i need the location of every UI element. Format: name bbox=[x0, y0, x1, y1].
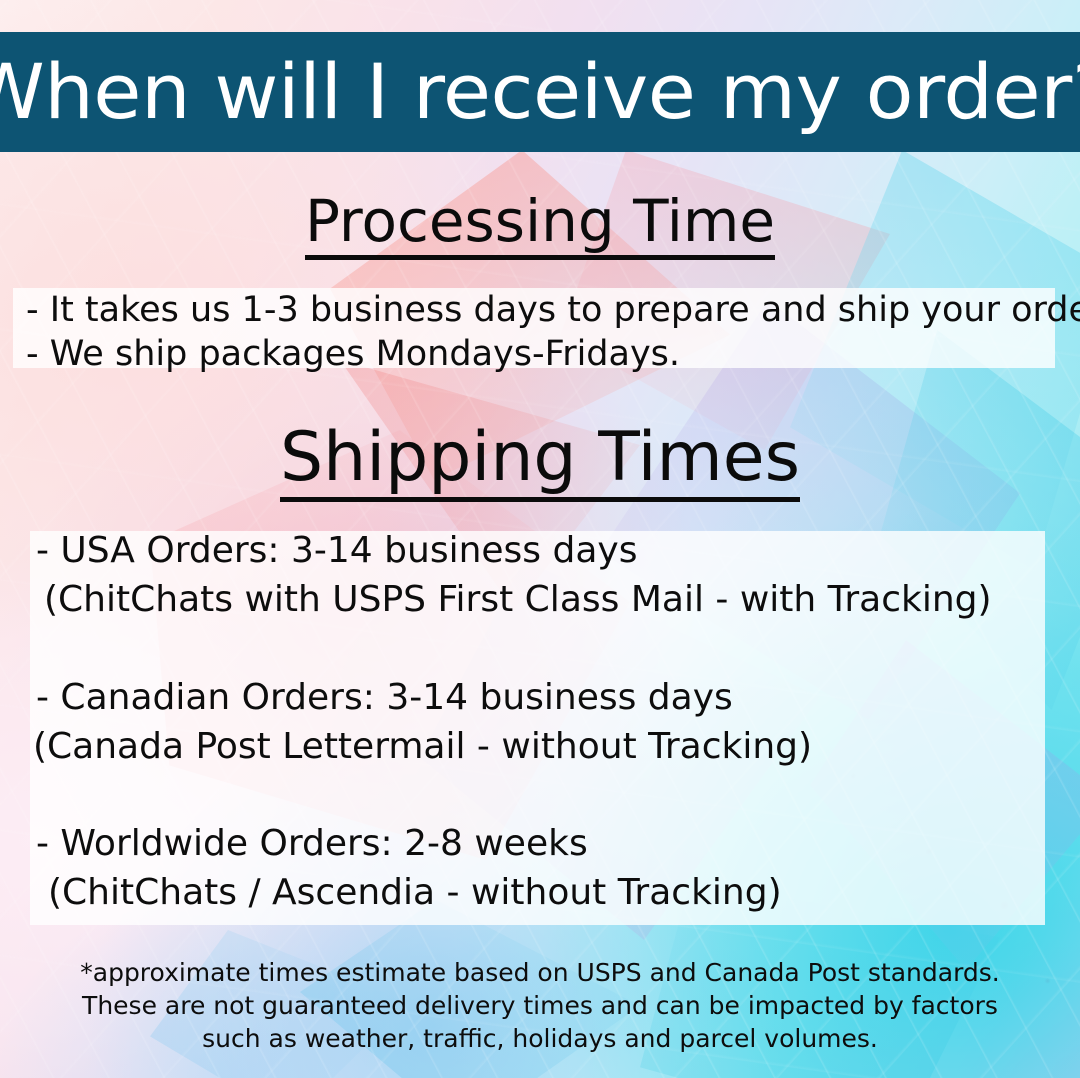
section-heading-processing-time-label: Processing Time bbox=[305, 192, 775, 260]
shipping-usa-line-1: - USA Orders: 3-14 business days bbox=[36, 533, 637, 569]
page-title: When will I receive my order? bbox=[0, 54, 1080, 130]
shipping-canada-line-2: (Canada Post Lettermail - without Tracki… bbox=[33, 729, 812, 765]
disclaimer-line-2: These are not guaranteed delivery times … bbox=[0, 989, 1080, 1022]
shipping-canada-line-1: - Canadian Orders: 3-14 business days bbox=[36, 680, 733, 716]
processing-time-line-1: - It takes us 1-3 business days to prepa… bbox=[26, 293, 1080, 328]
disclaimer-line-1: *approximate times estimate based on USP… bbox=[0, 956, 1080, 989]
shipping-worldwide-line-2: (ChitChats / Ascendia - without Tracking… bbox=[48, 875, 782, 911]
shipping-worldwide-line-1: - Worldwide Orders: 2-8 weeks bbox=[36, 826, 588, 862]
disclaimer-footnote: *approximate times estimate based on USP… bbox=[0, 956, 1080, 1055]
section-heading-shipping-times: Shipping Times bbox=[0, 424, 1080, 502]
shipping-policy-infographic: When will I receive my order? Processing… bbox=[0, 0, 1080, 1078]
section-heading-processing-time: Processing Time bbox=[0, 192, 1080, 260]
shipping-usa-line-2: (ChitChats with USPS First Class Mail - … bbox=[44, 582, 992, 618]
disclaimer-line-3: such as weather, traffic, holidays and p… bbox=[0, 1022, 1080, 1055]
section-heading-shipping-times-label: Shipping Times bbox=[280, 424, 800, 502]
processing-time-line-2: - We ship packages Mondays-Fridays. bbox=[26, 337, 680, 372]
header-banner: When will I receive my order? bbox=[0, 32, 1080, 152]
